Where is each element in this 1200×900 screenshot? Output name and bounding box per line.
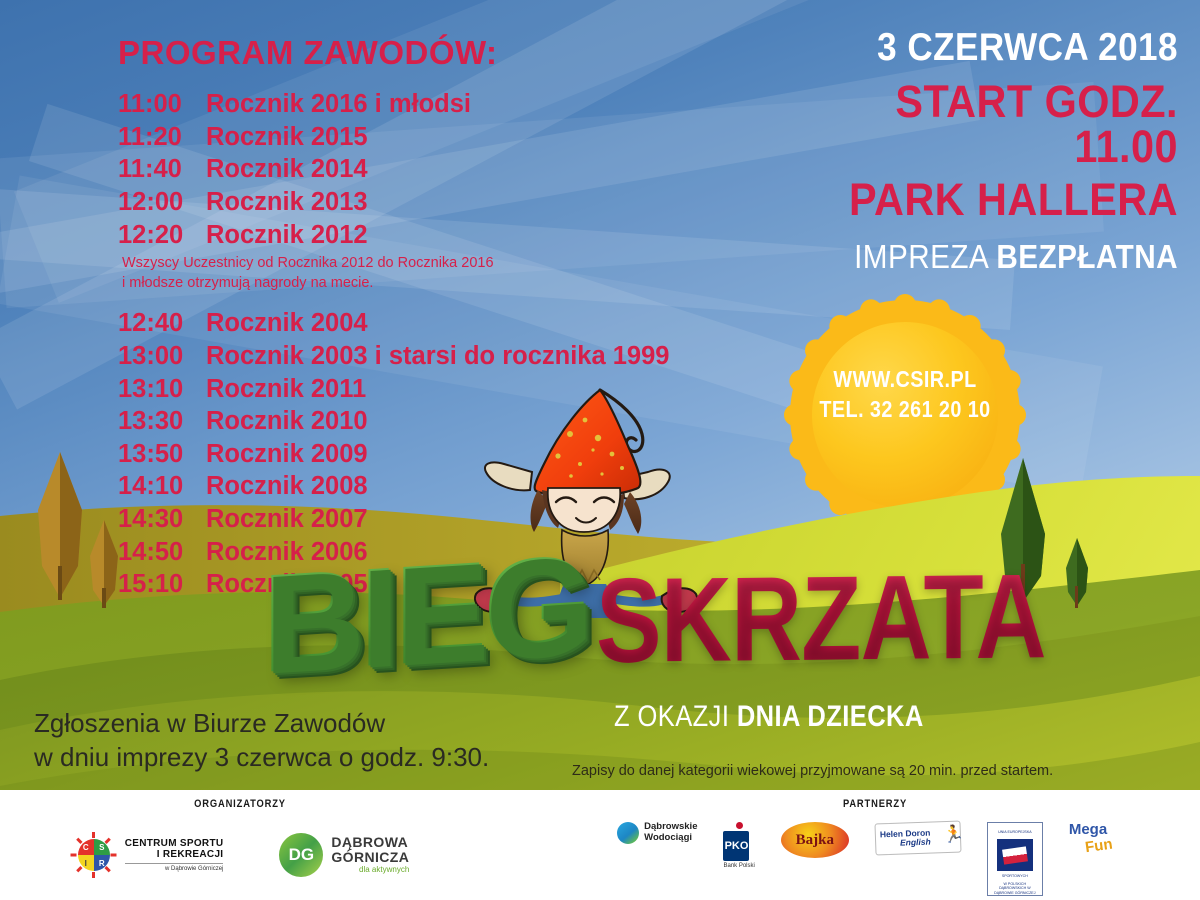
awards-note-line2: i młodsze otrzymują nagrody na mecie. — [122, 274, 798, 294]
csir-line2: I REKREACJI — [125, 849, 224, 860]
dg-line1: DĄBROWA — [331, 835, 409, 850]
schedule-time: 14:50 — [118, 536, 206, 569]
logo-unia-europejska[interactable]: UNIA EUROPEJSKA SPORTOWYCH W POLSKICH DĄ… — [987, 822, 1043, 896]
helen-doron-wordmark: Helen Doron English — [880, 829, 931, 849]
event-location: PARK HALLERA — [810, 177, 1178, 222]
schedule-label: Rocznik 2007 — [206, 505, 368, 533]
footer-bar: ORGANIZATORZY C S — [0, 790, 1200, 900]
schedule-time: 11:40 — [118, 153, 206, 186]
water-drop-icon — [617, 822, 639, 844]
logo-dabrowskie-wodociagi[interactable]: Dąbrowskie Wodociągi — [617, 822, 697, 844]
event-date: 3 CZERWCA 2018 — [818, 28, 1178, 67]
wodociagi-line2: Wodociągi — [644, 833, 697, 844]
helen-doron-line2: English — [880, 838, 931, 849]
registration-line2: w dniu imprezy 3 czerwca o godz. 9:30. — [34, 740, 574, 774]
partners-heading: PARTNERZY — [607, 798, 1143, 810]
eu-line3: W POLSKICH DĄBROWSKICH W DĄBROWIE GÓRNIC… — [988, 882, 1042, 895]
organizers-logo-row: C S I R CENTRUM SPORTU I REKREACJI w Dąb… — [20, 832, 460, 878]
schedule-time: 14:30 — [118, 503, 206, 536]
schedule-label: Rocznik 2003 i starsi do rocznika 1999 — [206, 342, 669, 370]
schedule-label: Rocznik 2016 i młodsi — [206, 90, 471, 118]
eu-line2: SPORTOWYCH — [1000, 874, 1030, 878]
awards-note-line1: Wszyscy Uczestnicy od Rocznika 2012 do R… — [122, 254, 798, 274]
pko-caption: Bank Polski — [723, 863, 754, 869]
poland-flag-icon — [1002, 846, 1028, 864]
pko-dot-icon — [736, 822, 743, 829]
schedule-group-one: 11:00Rocznik 2016 i młodsi 11:20Rocznik … — [118, 88, 798, 251]
organizers-heading: ORGANIZATORZY — [53, 798, 427, 810]
logo-subtitle-bold: DNIA DZIECKA — [737, 700, 924, 733]
event-start-time: START GODZ. 11.00 — [810, 79, 1178, 169]
logo-subtitle-thin: Z OKAZJI — [614, 700, 737, 733]
schedule-row: 11:00Rocznik 2016 i młodsi — [118, 88, 798, 121]
contact-block: WWW.CSIR.PL TEL. 32 261 20 10 — [806, 364, 1004, 425]
eu-flag-icon — [997, 839, 1033, 871]
registration-line1: Zgłoszenia w Biurze Zawodów — [34, 706, 574, 740]
wodociagi-wordmark: Dąbrowskie Wodociągi — [644, 822, 697, 844]
page-title: PROGRAM ZAWODÓW: — [118, 34, 798, 72]
schedule-row: 11:40Rocznik 2014 — [118, 153, 798, 186]
logo-bajka[interactable]: Bajka — [781, 822, 849, 858]
schedule-time: 11:20 — [118, 121, 206, 154]
csir-sun-icon: C S I R — [71, 832, 117, 878]
dg-wordmark: DĄBROWA GÓRNICZA dla aktywnych — [331, 835, 409, 875]
schedule-time: 11:00 — [118, 88, 206, 121]
schedule-time: 13:30 — [118, 405, 206, 438]
organizers-section: ORGANIZATORZY C S — [20, 798, 460, 878]
schedule-label: Rocznik 2004 — [206, 309, 368, 337]
dg-circle-icon: DG — [279, 833, 323, 877]
csir-quadrants: C S I R — [78, 839, 110, 871]
logo-pko-bank-polski[interactable]: PKO Bank Polski — [723, 822, 754, 869]
schedule-label: Rocznik 2008 — [206, 472, 368, 500]
logo-word-skrzata: SKRZATA — [596, 547, 1046, 690]
partners-logo-row-top: Dąbrowskie Wodociągi PKO Bank Polski Baj… — [560, 822, 1190, 896]
csir-line1: CENTRUM SPORTU — [125, 838, 224, 849]
free-prefix: IMPREZA — [854, 238, 996, 275]
schedule-time: 15:10 — [118, 568, 206, 601]
schedule-row: 13:00Rocznik 2003 i starsi do rocznika 1… — [118, 340, 798, 373]
schedule-label: Rocznik 2014 — [206, 155, 368, 183]
event-free-badge: IMPREZA BEZPŁATNA — [818, 240, 1178, 273]
schedule-label: Rocznik 2013 — [206, 188, 368, 216]
schedule-time: 12:40 — [118, 307, 206, 340]
csir-line3: w Dąbrowie Górniczej — [125, 863, 224, 872]
schedule-time: 13:00 — [118, 340, 206, 373]
phone-text: TEL. 32 261 20 10 — [806, 394, 1004, 424]
schedule-row: 12:20Rocznik 2012 — [118, 219, 798, 252]
schedule-row: 12:00Rocznik 2013 — [118, 186, 798, 219]
logo-word-bieg: BIEG — [262, 523, 588, 705]
eu-line1: UNIA EUROPEJSKA — [996, 830, 1034, 834]
partners-section: PARTNERZY Dąbrowskie Wodociągi PKO Bank … — [560, 798, 1190, 900]
schedule-label: Rocznik 2012 — [206, 221, 368, 249]
registration-note: Zgłoszenia w Biurze Zawodów w dniu impre… — [34, 706, 574, 775]
schedule-time: 13:10 — [118, 373, 206, 406]
awards-note: Wszyscy Uczestnicy od Rocznika 2012 do R… — [122, 254, 798, 293]
schedule-row: 11:20Rocznik 2015 — [118, 121, 798, 154]
dg-tagline: dla aktywnych — [331, 866, 409, 874]
free-strong: BEZPŁATNA — [996, 238, 1178, 275]
logo-helen-doron-english[interactable]: Helen Doron English 🏃 — [874, 821, 961, 856]
schedule-label: Rocznik 2010 — [206, 407, 368, 435]
dg-line2: GÓRNICZA — [331, 850, 409, 865]
event-info-panel: 3 CZERWCA 2018 START GODZ. 11.00 PARK HA… — [778, 28, 1178, 273]
schedule-time: 13:50 — [118, 438, 206, 471]
logo-dabrowa-gornicza[interactable]: DG DĄBROWA GÓRNICZA dla aktywnych — [279, 833, 409, 877]
logo-mega-fun[interactable]: Mega Fun — [1069, 822, 1133, 852]
logo-csir[interactable]: C S I R CENTRUM SPORTU I REKREACJI w Dąb… — [71, 832, 224, 878]
schedule-time: 12:00 — [118, 186, 206, 219]
late-registration-note: Zapisy do danej kategorii wiekowej przyj… — [572, 762, 1188, 781]
schedule-time: 14:10 — [118, 470, 206, 503]
csir-wordmark: CENTRUM SPORTU I REKREACJI w Dąbrowie Gó… — [125, 838, 224, 872]
poster-root: WWW.CSIR.PL TEL. 32 261 20 10 — [0, 0, 1200, 900]
logo-subtitle: Z OKAZJI DNIA DZIECKA — [614, 700, 924, 734]
schedule-time: 12:20 — [118, 219, 206, 252]
runner-icon: 🏃 — [942, 826, 956, 848]
pko-mark: PKO — [723, 831, 749, 861]
schedule-row: 12:40Rocznik 2004 — [118, 307, 798, 340]
schedule-label: Rocznik 2011 — [206, 375, 366, 403]
schedule-label: Rocznik 2015 — [206, 123, 368, 151]
website-text: WWW.CSIR.PL — [806, 364, 1004, 394]
schedule-label: Rocznik 2009 — [206, 440, 368, 468]
